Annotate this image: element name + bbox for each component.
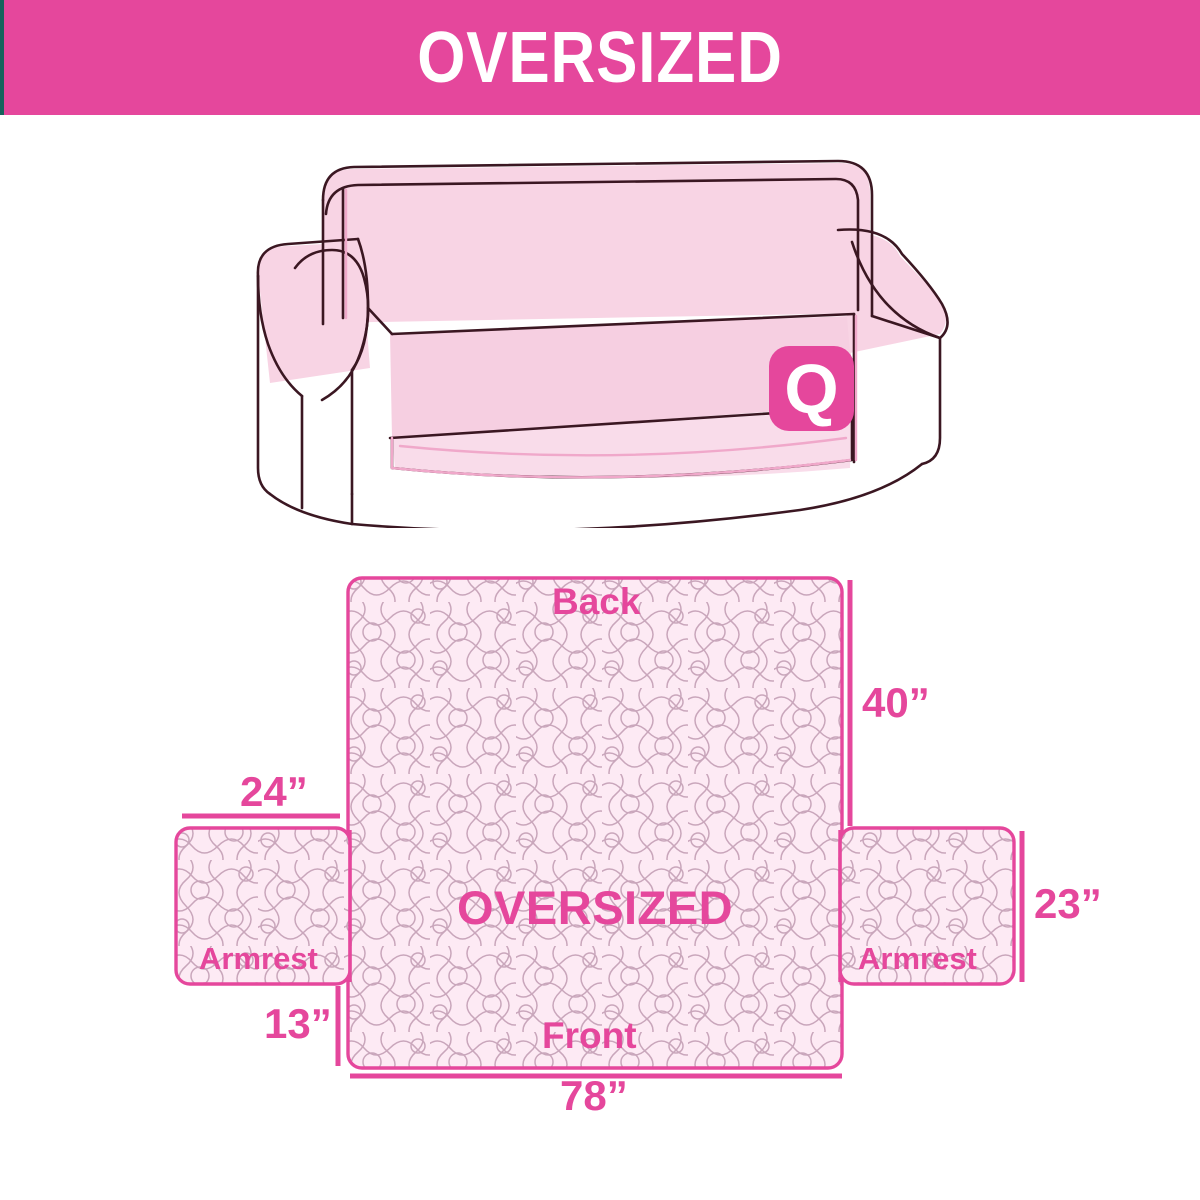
cover-dimension-diagram: Back Front Armrest Armrest OVERSIZED 40”… [0,0,1200,1200]
panel-label-back: Back [552,581,640,623]
diagram-center-size-label: OVERSIZED [457,880,733,935]
size-chart-page: OVERSIZED [0,0,1200,1200]
dimension-armrest-height: 23” [1034,880,1102,928]
panel-label-armrest-right: Armrest [858,941,977,977]
dimension-total-width: 78” [560,1072,628,1120]
dimension-front-height: 13” [264,1000,332,1048]
dimension-back-height: 40” [862,679,930,727]
panel-label-front: Front [542,1015,637,1057]
dimension-armrest-width: 24” [240,768,308,816]
panel-label-armrest-left: Armrest [199,941,318,977]
